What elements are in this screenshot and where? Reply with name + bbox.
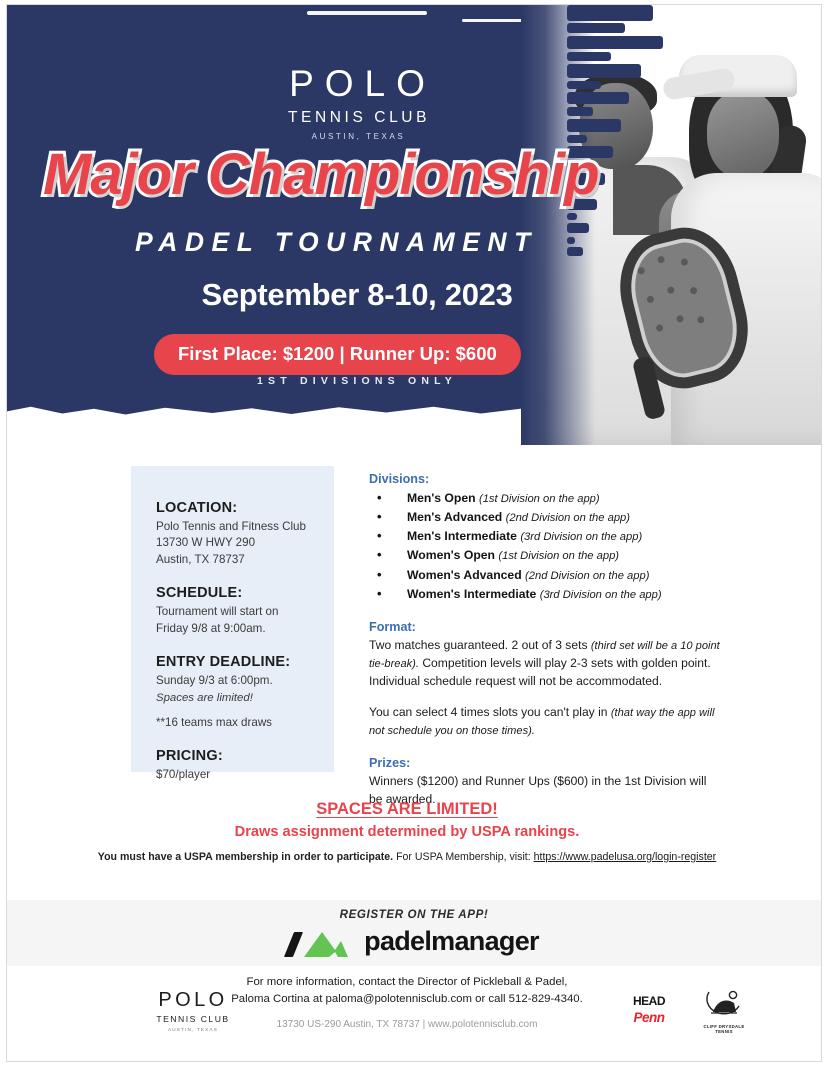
- schedule-heading: SCHEDULE:: [156, 585, 334, 601]
- register-band: REGISTER ON THE APP! padelmanager: [7, 900, 821, 966]
- padelmanager-logo[interactable]: padelmanager: [7, 926, 821, 957]
- division-note: (2nd Division on the app): [525, 570, 649, 582]
- cliff-drysdale-text: CLIFF DRYSDALE TENNIS: [695, 1024, 753, 1034]
- spaces-limited-callout: SPACES ARE LIMITED!: [0, 800, 814, 819]
- division-name: Men's Open: [407, 491, 476, 505]
- hero-club-logo: POLO TENNIS CLUB AUSTIN, TEXAS: [7, 65, 707, 141]
- register-title: REGISTER ON THE APP!: [7, 908, 821, 921]
- event-dates: September 8-10, 2023: [7, 277, 707, 313]
- timeslot-text-a: You can select 4 times slots you can't p…: [369, 705, 611, 719]
- event-headline: Major Championship: [43, 146, 599, 204]
- location-line-1: Polo Tennis and Fitness Club: [156, 519, 334, 535]
- pricing-heading: PRICING:: [156, 748, 334, 764]
- footer-address: 13730 US-290 Austin, TX 78737 | www.polo…: [207, 1019, 607, 1030]
- deadline-heading: ENTRY DEADLINE:: [156, 654, 334, 670]
- draws-rankings-note: Draws assignment determined by USPA rank…: [0, 824, 814, 840]
- division-note: (1st Division on the app): [498, 550, 619, 562]
- division-name: Women's Advanced: [407, 568, 522, 582]
- max-draws-note: **16 teams max draws: [156, 715, 334, 731]
- divisions-list: Men's Open (1st Division on the app) Men…: [369, 489, 721, 604]
- list-item: Men's Advanced (2nd Division on the app): [369, 508, 721, 527]
- division-name: Women's Intermediate: [407, 587, 536, 601]
- deadline-line-2: Spaces are limited!: [156, 690, 334, 706]
- uspa-membership-note: You must have a USPA membership in order…: [0, 851, 814, 863]
- division-name: Men's Advanced: [407, 510, 502, 524]
- division-name: Women's Open: [407, 548, 495, 562]
- division-note: (1st Division on the app): [479, 493, 600, 505]
- hero-banner: POLO TENNIS CLUB AUSTIN, TEXAS Major Cha…: [7, 5, 821, 445]
- schedule-line-2: Friday 9/8 at 9:00am.: [156, 621, 334, 637]
- event-subheadline: PADEL TOURNAMENT: [135, 227, 538, 258]
- tennis-player-circle-icon: [703, 988, 745, 1018]
- club-logo-city: AUSTIN, TEXAS: [7, 132, 707, 141]
- list-item: Women's Advanced (2nd Division on the ap…: [369, 566, 721, 585]
- uspa-link[interactable]: https://www.padelusa.org/login-register: [534, 851, 717, 863]
- format-text-b: Competition levels will play 2-3 sets wi…: [369, 656, 711, 688]
- contact-line-2: Paloma Cortina at paloma@polotennisclub.…: [207, 991, 607, 1008]
- location-heading: LOCATION:: [156, 500, 334, 516]
- head-wordmark: HEAD: [633, 994, 665, 1008]
- footer-contact: For more information, contact the Direct…: [207, 974, 607, 1030]
- sponsor-cliff-drysdale-logo: CLIFF DRYSDALE TENNIS: [695, 988, 753, 1034]
- location-line-3: Austin, TX 78737: [156, 552, 334, 568]
- uspa-rest-text: For USPA Membership, visit:: [393, 851, 534, 863]
- club-logo-name: POLO: [7, 65, 707, 102]
- prize-badge: First Place: $1200 | Runner Up: $600: [154, 334, 521, 375]
- division-note: (3rd Division on the app): [540, 589, 662, 601]
- list-item: Men's Intermediate (3rd Division on the …: [369, 527, 721, 546]
- format-heading: Format:: [369, 620, 721, 634]
- sponsor-head-penn-logo: HEAD Penn: [633, 994, 665, 1025]
- format-text-a: Two matches guaranteed. 2 out of 3 sets: [369, 638, 591, 652]
- chevron-mark-icon: [302, 930, 350, 957]
- format-paragraph-2: You can select 4 times slots you can't p…: [369, 704, 721, 740]
- division-note: (3rd Division on the app): [520, 531, 642, 543]
- penn-wordmark: Penn: [633, 1010, 665, 1025]
- list-item: Women's Intermediate (3rd Division on th…: [369, 585, 721, 604]
- page-footer: POLO TENNIS CLUB AUSTIN, TEXAS For more …: [7, 972, 821, 1058]
- padelmanager-wordmark: padelmanager: [364, 926, 539, 957]
- uspa-bold-text: You must have a USPA membership in order…: [98, 851, 393, 863]
- schedule-line-1: Tournament will start on: [156, 604, 334, 620]
- divisions-only-note: 1ST DIVISIONS ONLY: [7, 375, 707, 387]
- location-line-2: 13730 W HWY 290: [156, 535, 334, 551]
- format-paragraph-1: Two matches guaranteed. 2 out of 3 sets …: [369, 637, 721, 690]
- deadline-line-1: Sunday 9/3 at 6:00pm.: [156, 673, 334, 689]
- list-item: Men's Open (1st Division on the app): [369, 489, 721, 508]
- prizes-heading: Prizes:: [369, 756, 721, 770]
- contact-line-1: For more information, contact the Direct…: [207, 974, 607, 991]
- details-column: Divisions: Men's Open (1st Division on t…: [369, 472, 721, 808]
- list-item: Women's Open (1st Division on the app): [369, 546, 721, 565]
- divisions-heading: Divisions:: [369, 472, 721, 486]
- club-logo-sub: TENNIS CLUB: [7, 109, 707, 127]
- info-box: LOCATION: Polo Tennis and Fitness Club 1…: [131, 466, 334, 772]
- pricing-line-1: $70/player: [156, 767, 334, 783]
- flyer-page: POLO TENNIS CLUB AUSTIN, TEXAS Major Cha…: [0, 0, 828, 1066]
- division-note: (2nd Division on the app): [506, 512, 630, 524]
- division-name: Men's Intermediate: [407, 529, 517, 543]
- padelmanager-mark-icon: [289, 927, 353, 957]
